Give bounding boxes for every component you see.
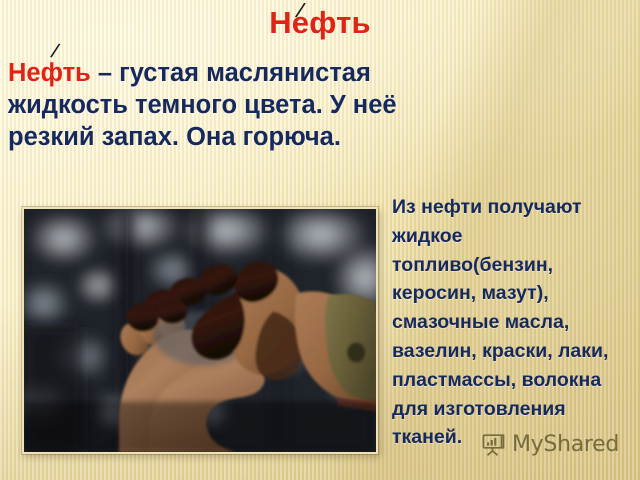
products-line: вазелин, краски, лаки,: [392, 337, 638, 366]
presentation-chart-icon: [481, 433, 506, 457]
products-line: керосин, мазут),: [392, 279, 638, 308]
slide-title: Нефть /: [0, 5, 640, 41]
products-line: смазочные масла,: [392, 308, 638, 337]
definition-paragraph: Нефть/ – густая маслянистая жидкость тем…: [8, 57, 408, 153]
myshared-watermark-label: MyShared: [512, 432, 619, 457]
oil-in-hands-photo-icon: [24, 209, 376, 452]
products-line: пластмассы, волокна: [392, 366, 638, 395]
slide-title-text: Нефть: [269, 5, 371, 40]
products-line: жидкое: [392, 222, 638, 251]
products-line: Из нефти получают: [392, 193, 638, 222]
slide-canvas: Нефть / Нефть/ – густая маслянистая жидк…: [0, 0, 640, 480]
myshared-watermark: MyShared: [481, 432, 619, 457]
oil-photo-image: [24, 209, 376, 452]
products-line: топливо(бензин,: [392, 251, 638, 280]
products-line: для изготовления: [392, 395, 638, 424]
oil-photo: [22, 207, 378, 454]
products-paragraph: Из нефти получают жидкое топливо(бензин,…: [392, 193, 638, 452]
definition-keyword: Нефть: [8, 59, 91, 87]
